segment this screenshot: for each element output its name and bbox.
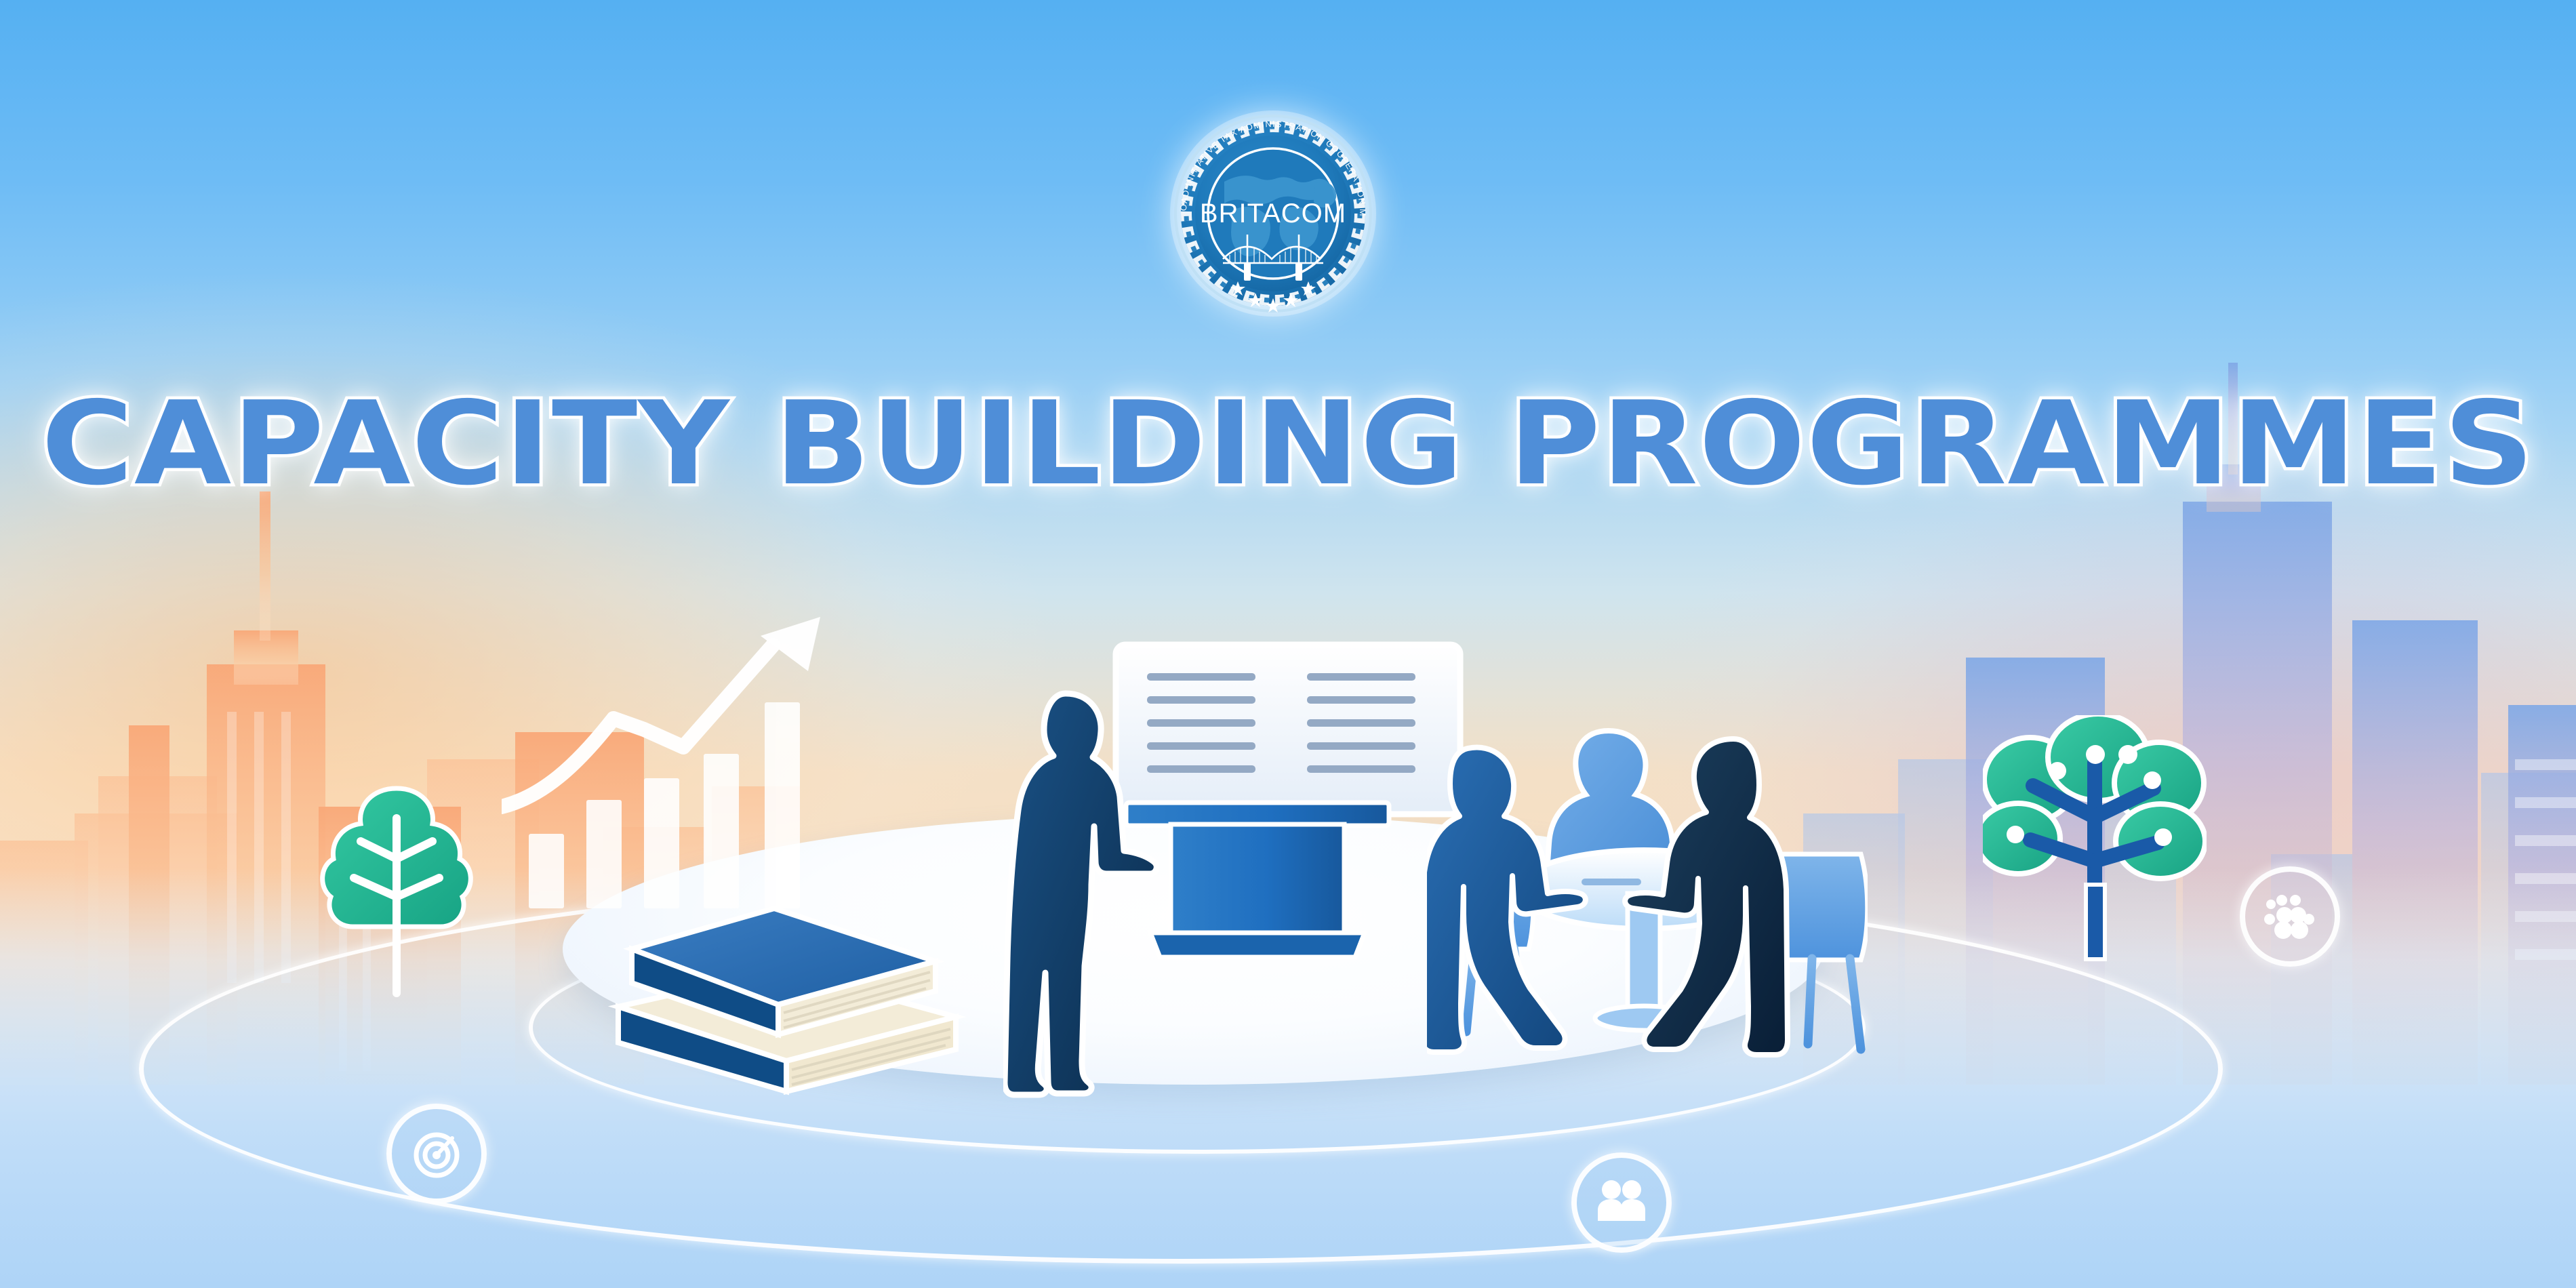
participant-left <box>1427 748 1586 1052</box>
podium <box>1122 800 1393 969</box>
network-icon <box>2263 889 2317 944</box>
growth-arrow-chart <box>502 597 868 908</box>
people-icon <box>1592 1179 1651 1226</box>
stacked-books <box>603 888 969 1132</box>
target-badge[interactable] <box>386 1104 487 1204</box>
presenter-silhouette <box>1003 681 1159 1102</box>
tree-right-icon <box>1983 715 2207 1000</box>
round-table-meeting <box>1427 719 1868 1098</box>
page-title: CAPACITY BUILDING PROGRAMMES <box>0 386 2576 502</box>
britacom-emblem: BELT AND ROAD INITIATIVE TAX ADMINISTRAT… <box>1138 102 1409 325</box>
target-icon <box>407 1125 466 1183</box>
capacity-building-banner: BELT AND ROAD INITIATIVE TAX ADMINISTRAT… <box>0 0 2576 1288</box>
people-badge[interactable] <box>1571 1152 1672 1253</box>
tree-left-icon <box>312 776 481 1007</box>
network-badge[interactable] <box>2240 866 2340 967</box>
emblem-center-text: BRITACOM <box>1200 199 1346 228</box>
